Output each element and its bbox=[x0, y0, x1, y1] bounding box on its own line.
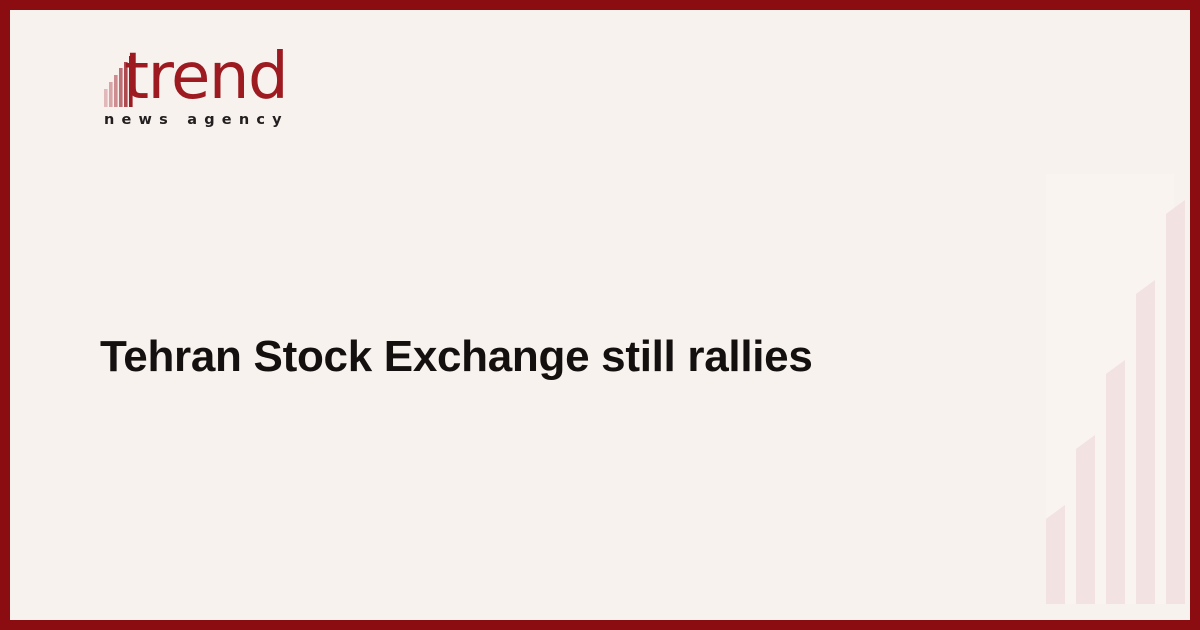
page-title: Tehran Stock Exchange still rallies bbox=[100, 331, 900, 383]
social-share-card: trend news agency Tehran Stock Exchange … bbox=[0, 0, 1200, 630]
logo-wordmark: trend bbox=[124, 45, 287, 109]
logo-tagline: news agency bbox=[104, 112, 289, 128]
ascending-bars-watermark-icon bbox=[1000, 160, 1190, 604]
card-inner-surface: trend news agency Tehran Stock Exchange … bbox=[10, 10, 1190, 620]
trend-news-agency-logo[interactable]: trend news agency bbox=[96, 43, 356, 143]
